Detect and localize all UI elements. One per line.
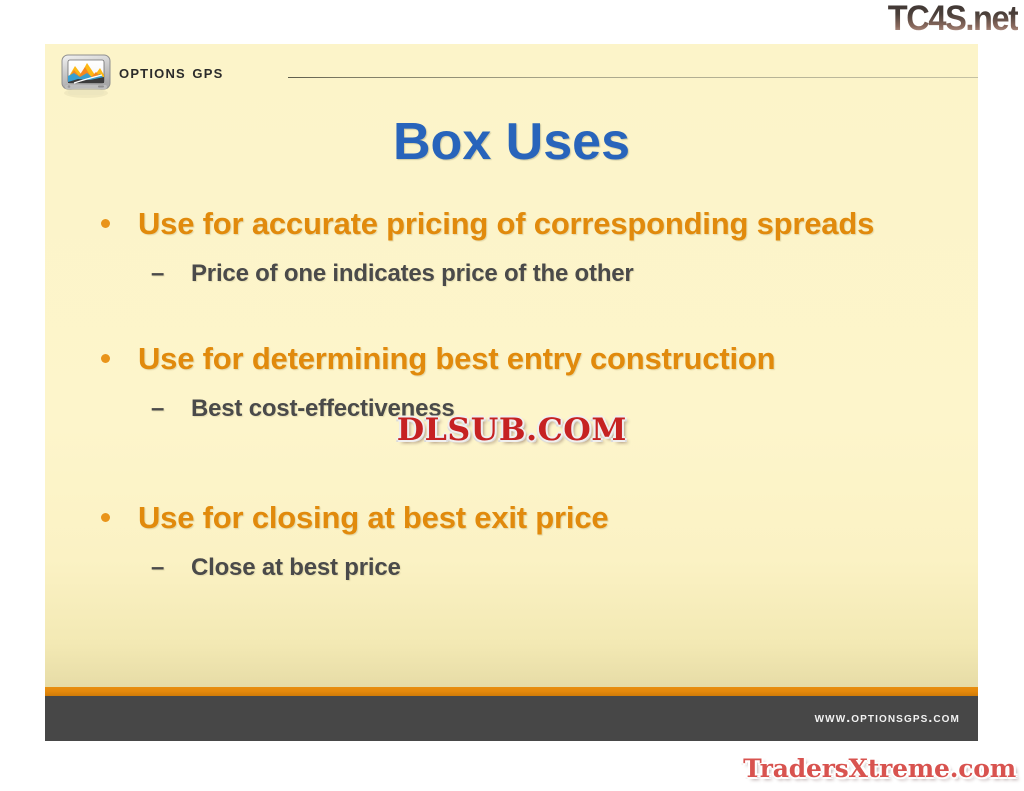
bullet-main: Use for determining best entry construct… xyxy=(93,337,948,380)
spacer xyxy=(93,472,948,496)
dash-icon: – xyxy=(151,257,164,291)
spacer xyxy=(93,539,948,551)
tradersxtreme-watermark: TradersXtreme.com xyxy=(743,754,1016,783)
bullet-main-text: Use for accurate pricing of correspondin… xyxy=(138,206,874,241)
slide-body: Use for accurate pricing of correspondin… xyxy=(93,202,948,585)
bullet-dot-icon xyxy=(101,513,110,522)
bullet-main: Use for accurate pricing of correspondin… xyxy=(93,202,948,245)
dash-icon: – xyxy=(151,392,164,426)
footer-bar: www.OptionsGPS.com xyxy=(45,696,978,741)
brand-name: Options GPS xyxy=(119,62,223,84)
tradersxtreme-watermark-text: TradersXtreme.com xyxy=(743,754,1016,783)
footer-stripe xyxy=(45,687,978,696)
tc4s-watermark: TC4S.net xyxy=(888,0,1018,40)
spacer xyxy=(93,291,948,337)
bullet-dot-icon xyxy=(101,219,110,228)
spacer xyxy=(93,426,948,472)
spacer xyxy=(93,245,948,257)
bullet-main: Use for closing at best exit price xyxy=(93,496,948,539)
footer-website-url: www.OptionsGPS.com xyxy=(815,709,960,725)
bullet-sub: – Close at best price xyxy=(93,551,948,585)
bullet-sub-text: Close at best price xyxy=(191,554,401,581)
slide-header: Options GPS xyxy=(45,44,978,100)
bullet-sub: – Best cost-effectiveness xyxy=(93,392,948,426)
dash-icon: – xyxy=(151,551,164,585)
bullet-dot-icon xyxy=(101,354,110,363)
bullet-group-3: Use for closing at best exit price – Clo… xyxy=(93,496,948,585)
spacer xyxy=(93,380,948,392)
bullet-group-2: Use for determining best entry construct… xyxy=(93,337,948,426)
bullet-main-text: Use for determining best entry construct… xyxy=(138,341,775,376)
slide-canvas: Options GPS Box Uses Use for accurate pr… xyxy=(45,44,978,741)
gps-device-icon xyxy=(60,52,114,100)
bullet-sub-text: Price of one indicates price of the othe… xyxy=(191,260,634,287)
bullet-group-1: Use for accurate pricing of correspondin… xyxy=(93,202,948,291)
bullet-sub-text: Best cost-effectiveness xyxy=(191,395,455,422)
bullet-sub: – Price of one indicates price of the ot… xyxy=(93,257,948,291)
page-title: Box Uses xyxy=(45,112,978,172)
header-divider xyxy=(288,77,978,78)
bullet-main-text: Use for closing at best exit price xyxy=(138,500,608,535)
